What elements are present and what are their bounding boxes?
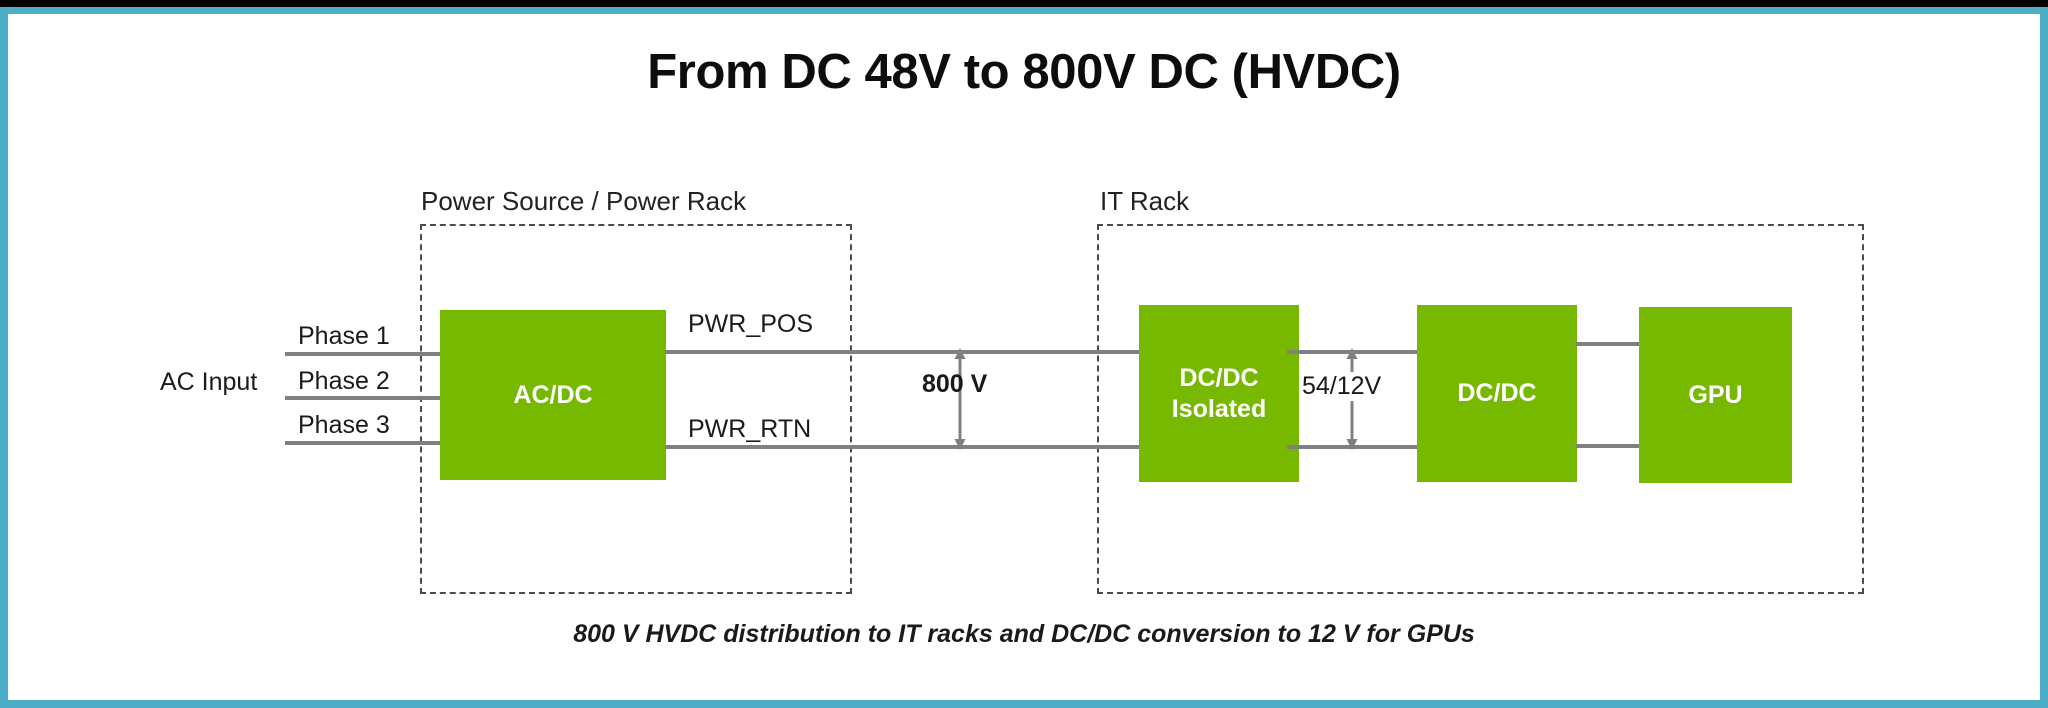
block-dc-dc-isolated[interactable]: DC/DC Isolated — [1139, 305, 1299, 482]
phase-1-label: Phase 1 — [298, 322, 390, 351]
frame-left-teal-bar — [0, 7, 8, 708]
block-gpu-label: GPU — [1688, 380, 1742, 411]
pwr-rtn-label: PWR_RTN — [688, 415, 811, 444]
frame-top-teal-bar — [0, 7, 2048, 14]
wire-pwr-rtn — [665, 445, 1139, 449]
frame-top-black-bar — [0, 0, 2048, 7]
frame-right-teal-bar — [2040, 7, 2048, 708]
phase-3-label: Phase 3 — [298, 411, 390, 440]
block-dc-dc-isolated-label-line2: Isolated — [1172, 394, 1266, 425]
group-label-power-source: Power Source / Power Rack — [421, 186, 746, 217]
measurement-label-800v: 800 V — [922, 370, 987, 399]
block-dc-dc-isolated-label-line1: DC/DC — [1179, 363, 1258, 394]
measurement-arrow-54-12v — [1340, 348, 1364, 455]
measurement-arrow-800v — [948, 348, 972, 455]
wire-phase-1 — [285, 352, 445, 356]
wire-phase-2 — [285, 396, 445, 400]
wire-pwr-pos — [665, 350, 1139, 354]
pwr-pos-label: PWR_POS — [688, 310, 813, 339]
frame-bottom-teal-bar — [0, 700, 2048, 708]
page-title: From DC 48V to 800V DC (HVDC) — [0, 44, 2048, 100]
wire-gpu-pos — [1576, 342, 1641, 346]
block-ac-dc[interactable]: AC/DC — [440, 310, 666, 480]
ac-input-label: AC Input — [160, 368, 257, 397]
block-gpu[interactable]: GPU — [1639, 307, 1792, 483]
measurement-label-54-12v: 54/12V — [1300, 372, 1383, 401]
wire-phase-3 — [285, 441, 445, 445]
group-label-it-rack: IT Rack — [1100, 186, 1189, 217]
block-ac-dc-label: AC/DC — [513, 380, 592, 411]
wire-gpu-rtn — [1576, 444, 1641, 448]
phase-2-label: Phase 2 — [298, 367, 390, 396]
block-dc-dc[interactable]: DC/DC — [1417, 305, 1577, 482]
block-dc-dc-label: DC/DC — [1457, 378, 1536, 409]
figure-caption: 800 V HVDC distribution to IT racks and … — [0, 620, 2048, 649]
diagram-canvas: From DC 48V to 800V DC (HVDC) Power Sour… — [0, 0, 2048, 708]
